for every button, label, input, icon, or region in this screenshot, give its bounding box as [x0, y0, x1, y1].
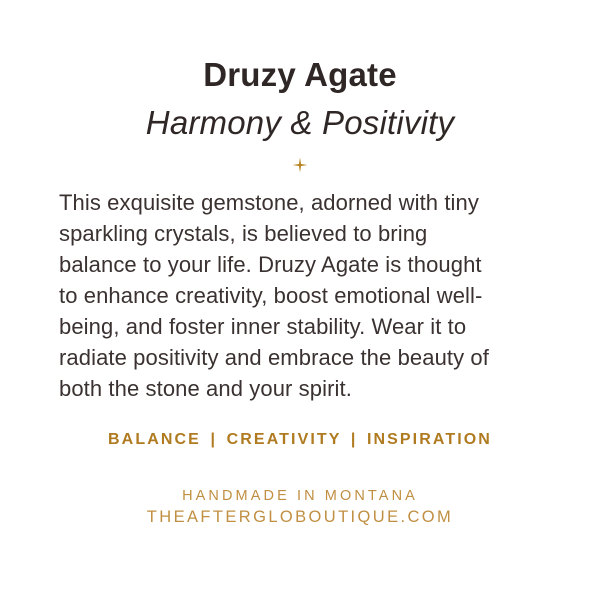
- description-block: This exquisite gemstone, adorned with ti…: [53, 187, 547, 404]
- keyword-creativity: CREATIVITY: [227, 431, 342, 448]
- description-line: balance to your life. Druzy Agate is tho…: [59, 249, 547, 280]
- footer: HANDMADE IN MONTANA THEAFTERGLOBOUTIQUE.…: [147, 486, 453, 528]
- description-line: radiate positivity and embrace the beaut…: [59, 342, 547, 373]
- description-line: sparkling crystals, is believed to bring: [59, 218, 547, 249]
- sparkle-divider: [285, 157, 315, 173]
- footer-website-text: THEAFTERGLOBOUTIQUE.COM: [147, 506, 453, 528]
- keyword-list: BALANCE | CREATIVITY | INSPIRATION: [108, 431, 492, 449]
- footer-origin-text: HANDMADE IN MONTANA: [182, 486, 418, 506]
- page-title: Druzy Agate: [203, 0, 397, 93]
- sparkle-star-icon: [292, 157, 308, 173]
- description-line: This exquisite gemstone, adorned with ti…: [59, 187, 547, 218]
- keyword-balance: BALANCE: [108, 431, 201, 448]
- keyword-separator: |: [208, 431, 221, 448]
- description-line: to enhance creativity, boost emotional w…: [59, 280, 547, 311]
- product-info-card: Druzy Agate Harmony & Positivity This ex…: [0, 0, 600, 600]
- description-line: being, and foster inner stability. Wear …: [59, 311, 547, 342]
- description-line: both the stone and your spirit.: [59, 373, 547, 404]
- page-subtitle: Harmony & Positivity: [146, 93, 454, 141]
- keyword-separator: |: [348, 431, 361, 448]
- keyword-inspiration: INSPIRATION: [367, 431, 492, 448]
